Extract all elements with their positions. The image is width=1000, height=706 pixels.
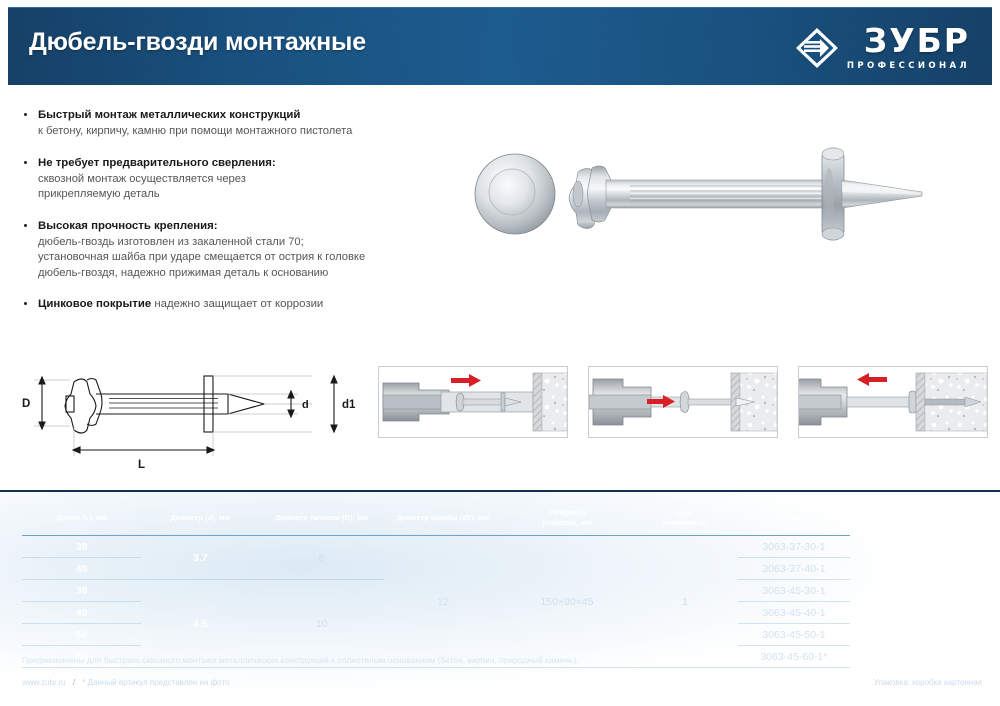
column-header-article: Артикул: [738, 504, 850, 536]
usage-note: Предназначены для быстрого сквозного мон…: [22, 655, 579, 665]
dimension-label-L: L: [138, 459, 145, 471]
cell-washer-diameter: 12: [384, 536, 502, 668]
asterisk-note: * Данный артикул представлен на фото: [82, 678, 229, 687]
feature-list: Быстрый монтаж металлических конструкций…: [22, 108, 402, 326]
installation-step-2: [588, 366, 778, 438]
arrow-right-icon: [451, 374, 481, 387]
column-header-package-size: Габариты упаковки, мм: [502, 504, 632, 536]
feature-item-4: Цинковое покрытие надежно защищает от ко…: [22, 297, 402, 312]
feature-item-1: Быстрый монтаж металлических конструкций…: [22, 108, 402, 140]
cell-article: 3063-45-60-1*: [738, 646, 850, 668]
dimension-label-D: D: [22, 398, 30, 410]
table-header-row: Длина (L), мм Диаметр (d), мм Диаметр го…: [22, 504, 850, 536]
technical-drawing: D d d1 L: [12, 360, 362, 475]
column-header-washer-diameter: Диаметр шайбы (d1), мм: [384, 504, 502, 536]
cell-length: 30: [22, 536, 141, 558]
feature-heading: Быстрый монтаж металлических конструкций: [38, 108, 402, 123]
installation-steps: [378, 366, 992, 442]
cell-length: 40: [22, 558, 141, 580]
feature-heading-regular: надежно защищает от коррозии: [151, 298, 323, 310]
feature-item-2: Не требует предварительного сверления: с…: [22, 156, 402, 203]
feature-body: дюбель-гвоздь изготовлен из закаленной с…: [38, 235, 402, 282]
cell-article: 3063-45-40-1: [738, 602, 850, 624]
column-header-package-weight: Вес упаковки, кг: [632, 504, 738, 536]
logo-wordmark: ЗУБР: [864, 25, 970, 57]
feature-heading: Высокая прочность крепления:: [38, 219, 402, 234]
cell-package-weight: 1: [632, 536, 738, 668]
footer-left: www.zubr.ru / * Данный артикул представл…: [22, 678, 229, 687]
table-row: 30 3.7 8 12 150×90×45 1 3063-37-30-1: [22, 536, 850, 558]
page-header: Дюбель-гвозди монтажные ЗУБР ПРОФЕССИОНА…: [8, 7, 992, 85]
feature-body: к бетону, кирпичу, камню при помощи монт…: [38, 124, 402, 140]
bullet-dot-icon: [24, 161, 27, 164]
installation-step-3: [798, 366, 988, 438]
logo-tagline: ПРОФЕССИОНАЛ: [847, 61, 970, 71]
bullet-dot-icon: [24, 113, 27, 116]
column-header-head-diameter: Диаметр головки (D), мм: [259, 504, 384, 536]
product-datasheet-page: Дюбель-гвозди монтажные ЗУБР ПРОФЕССИОНА…: [0, 0, 1000, 706]
specification-table: Длина (L), мм Диаметр (d), мм Диаметр го…: [22, 504, 850, 668]
bullet-dot-icon: [24, 224, 27, 227]
feature-item-3: Высокая прочность крепления: дюбель-гвоз…: [22, 219, 402, 282]
cell-article: 3063-45-30-1: [738, 580, 850, 602]
zubr-diamond-icon: [794, 26, 840, 70]
cell-head-diameter-group-1: 8: [259, 536, 384, 580]
feature-body: сквозной монтаж осуществляется через при…: [38, 172, 402, 203]
cell-length: 50: [22, 624, 141, 646]
column-header-length: Длина (L), мм: [22, 504, 141, 536]
cell-article: 3063-45-50-1: [738, 624, 850, 646]
cell-package-size: 150×90×45: [502, 536, 632, 668]
logo-text-block: ЗУБР ПРОФЕССИОНАЛ: [847, 25, 970, 71]
dowel-nail: [569, 148, 922, 240]
cell-article: 3063-37-40-1: [738, 558, 850, 580]
website-link[interactable]: www.zubr.ru: [22, 678, 66, 687]
feature-heading: Не требует предварительного сверления:: [38, 156, 402, 171]
installation-step-1: [378, 366, 568, 438]
arrow-left-icon: [857, 373, 887, 386]
dimension-label-d1: d1: [342, 399, 356, 411]
installed-washer: [822, 148, 844, 240]
cell-article: 3063-37-30-1: [738, 536, 850, 558]
bullet-dot-icon: [24, 302, 27, 305]
dimension-label-d: d: [302, 399, 309, 411]
cell-diameter-group-1: 3.7: [141, 536, 259, 580]
feature-heading: Цинковое покрытие надежно защищает от ко…: [38, 297, 402, 312]
cell-length: 30: [22, 580, 141, 602]
page-title: Дюбель-гвозди монтажные: [29, 28, 366, 57]
column-header-diameter: Диаметр (d), мм: [141, 504, 259, 536]
washer-disc: [475, 154, 555, 234]
cell-length: 40: [22, 602, 141, 624]
brand-logo: ЗУБР ПРОФЕССИОНАЛ: [794, 25, 970, 73]
product-photo: [470, 120, 995, 300]
footer-separator: /: [73, 678, 75, 687]
feature-heading-bold: Цинковое покрытие: [38, 298, 151, 310]
packaging-info: Упаковка: коробка картонная: [874, 678, 982, 687]
specification-section: Длина (L), мм Диаметр (d), мм Диаметр го…: [0, 490, 1000, 706]
